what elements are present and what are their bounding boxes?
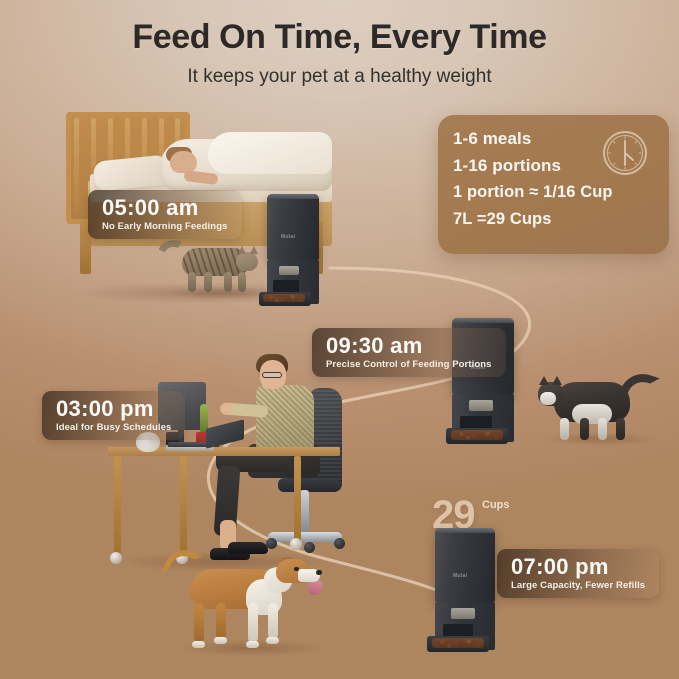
chip-time: 09:30 am [326, 334, 492, 357]
person-shoe-right [228, 542, 268, 554]
cat-leg-2 [204, 272, 212, 292]
cat-leg-3 [224, 272, 232, 292]
spec-line-capacity: 7L =29 Cups [453, 211, 669, 228]
office-chair-seat [278, 478, 340, 492]
cat-fluffy [536, 370, 660, 442]
cat-leg-1 [188, 272, 196, 292]
chip-time: 03:00 pm [56, 397, 171, 420]
glasses-icon [262, 372, 282, 378]
dog-leg-1 [194, 603, 204, 643]
dog-leg-2 [216, 603, 226, 639]
cat-head [236, 252, 258, 271]
cat-face [540, 392, 556, 405]
feeder-lid [267, 194, 319, 199]
dog-leg-4 [268, 603, 278, 639]
dog-leg-3 [248, 603, 258, 643]
capacity-unit: Cups [482, 499, 510, 511]
dog-paw-4 [266, 637, 279, 644]
clock-icon [601, 129, 649, 177]
cat-leg-1 [560, 418, 569, 440]
cat-leg-4 [238, 272, 246, 292]
kibble [451, 430, 503, 440]
header: Feed On Time, Every Time It keeps your p… [0, 0, 679, 88]
office-chair-base [268, 532, 342, 542]
chip-time: 05:00 am [102, 196, 228, 219]
cat-leg-4 [616, 418, 625, 440]
spec-line-portion-size: 1 portion ≈ 1/16 Cup [453, 184, 669, 201]
desk-leg-left [114, 456, 121, 556]
dog-paw-2 [214, 637, 227, 644]
person-arm [220, 402, 269, 417]
dog [168, 555, 324, 653]
feeder-hopper [435, 528, 495, 602]
cat-ear-right [250, 246, 258, 254]
chip-time: 07:00 pm [511, 555, 645, 578]
cat-ear-left [539, 376, 549, 385]
feeder-lid [435, 528, 495, 533]
feeder-brand-logo: Mulai [453, 573, 467, 579]
feeder-display [469, 400, 493, 411]
timeline-chip-0700pm[interactable]: 07:00 pm Large Capacity, Fewer Refills [497, 549, 659, 598]
specs-card: 1-6 meals 1-16 portions 1 portion ≈ 1/16… [438, 115, 669, 254]
chip-caption: No Early Morning Feedings [102, 221, 228, 232]
cat-leg-2 [580, 418, 589, 440]
timeline-chip-0500am[interactable]: 05:00 am No Early Morning Feedings [88, 190, 242, 239]
dog-eye [294, 567, 299, 571]
feeder-lid [452, 318, 514, 323]
desk-caster-1 [110, 552, 122, 564]
dog-nose [316, 570, 322, 575]
feeder-display [279, 266, 299, 275]
office-chair-post [300, 490, 309, 536]
feeder-display [451, 608, 475, 619]
pet-feeder-bedroom: Mulai [267, 194, 329, 304]
timeline-chip-0930am[interactable]: 09:30 am Precise Control of Feeding Port… [312, 328, 506, 377]
kibble [432, 638, 484, 648]
chair-wheel-3 [334, 538, 345, 549]
promo-infographic: Feed On Time, Every Time It keeps your p… [0, 0, 679, 679]
page-title: Feed On Time, Every Time [0, 18, 679, 57]
desk-leg-right [180, 456, 187, 556]
chip-caption: Ideal for Busy Schedules [56, 422, 171, 433]
sleeper-head [170, 151, 197, 173]
cat-tabby [160, 240, 276, 296]
feeder-brand-logo: Mulai [281, 234, 295, 240]
timeline-chip-0300pm[interactable]: 03:00 pm Ideal for Busy Schedules [42, 391, 185, 440]
chip-caption: Precise Control of Feeding Portions [326, 359, 492, 370]
cat-ear-left [238, 246, 246, 254]
duvet-fold [208, 132, 332, 174]
chair-wheel-2 [304, 542, 315, 553]
page-subtitle: It keeps your pet at a healthy weight [0, 66, 679, 88]
chip-caption: Large Capacity, Fewer Refills [511, 580, 645, 591]
desk-caster-3 [290, 538, 302, 550]
person-torso [256, 385, 314, 451]
dog-paw-3 [246, 641, 259, 648]
desk-leg-back [294, 456, 301, 544]
laptop-screen [206, 419, 244, 448]
cat-leg-3 [598, 418, 607, 440]
cat-ear-right [552, 376, 562, 385]
dog-paw-1 [192, 641, 205, 648]
